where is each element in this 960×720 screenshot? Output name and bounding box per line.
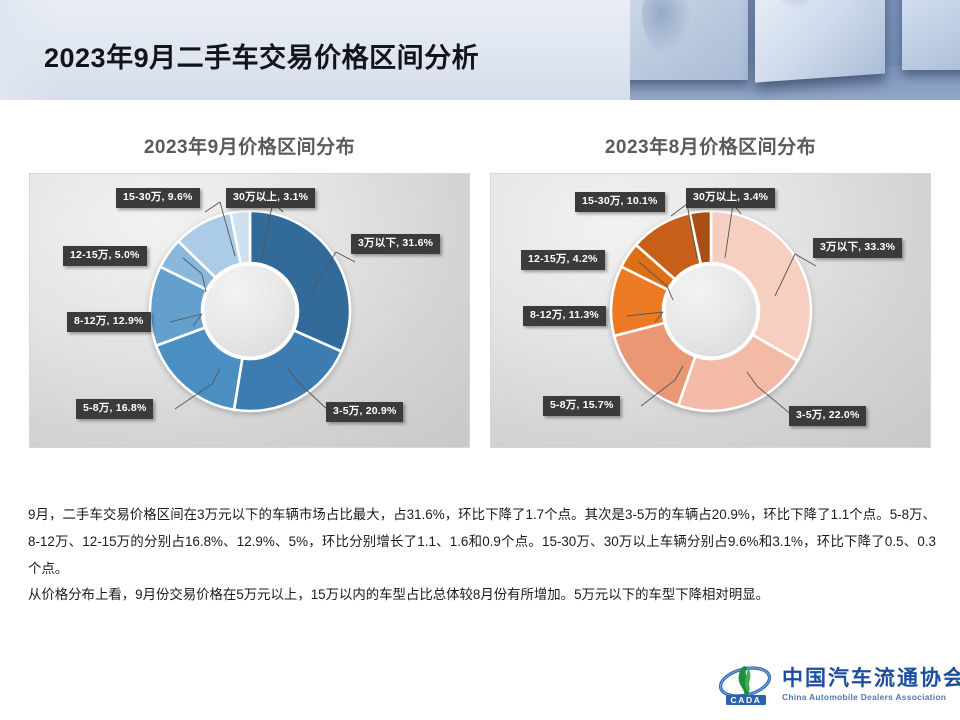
analysis-paragraph-1: 9月，二手车交易价格区间在3万元以下的车辆市场占比最大，占31.6%，环比下降了…	[28, 502, 936, 582]
cube-icon	[902, 0, 960, 70]
chart-title-august: 2023年8月价格区间分布	[490, 132, 931, 159]
data-label-5-8wan: 5-8万, 15.7%	[543, 396, 620, 416]
data-label-3-5wan: 3-5万, 22.0%	[789, 406, 866, 426]
data-label-under-3wan: 3万以下, 31.6%	[351, 234, 440, 254]
data-label-30wan-above: 30万以上, 3.4%	[686, 188, 775, 208]
chart-block-september: 2023年9月价格区间分布	[29, 132, 470, 448]
page-title: 2023年9月二手车交易价格区间分析	[44, 36, 479, 75]
data-label-12-15wan: 12-15万, 4.2%	[521, 250, 605, 270]
data-label-8-12wan: 8-12万, 11.3%	[523, 306, 606, 326]
svg-text:CADA: CADA	[731, 695, 762, 705]
cada-logo-en: China Automobile Dealers Association	[782, 693, 960, 701]
chart-title-september: 2023年9月价格区间分布	[29, 132, 470, 159]
chart-block-august: 2023年8月价格区间分布	[490, 132, 931, 448]
data-label-15-30wan: 15-30万, 10.1%	[575, 192, 665, 212]
data-label-12-15wan: 12-15万, 5.0%	[63, 246, 147, 266]
data-label-8-12wan: 8-12万, 12.9%	[67, 312, 151, 332]
header-decoration-image	[630, 0, 960, 100]
chart-panel-september: 15-30万, 9.6% 30万以上, 3.1% 3万以下, 31.6% 12-…	[29, 173, 470, 448]
chart-panel-august: 15-30万, 10.1% 30万以上, 3.4% 3万以下, 33.3% 12…	[490, 173, 931, 448]
analysis-text: 9月，二手车交易价格区间在3万元以下的车辆市场占比最大，占31.6%，环比下降了…	[28, 502, 936, 609]
data-label-15-30wan: 15-30万, 9.6%	[116, 188, 200, 208]
data-label-under-3wan: 3万以下, 33.3%	[813, 238, 902, 258]
analysis-paragraph-2: 从价格分布上看，9月份交易价格在5万元以上，15万以内的车型占比总体较8月份有所…	[28, 582, 936, 609]
data-label-3-5wan: 3-5万, 20.9%	[326, 402, 403, 422]
data-label-5-8wan: 5-8万, 16.8%	[76, 399, 153, 419]
cube-icon	[630, 0, 748, 80]
data-label-30wan-above: 30万以上, 3.1%	[226, 188, 315, 208]
cada-logo-text: 中国汽车流通协会 China Automobile Dealers Associ…	[782, 668, 960, 701]
cube-icon	[755, 0, 885, 83]
cada-logo-cn: 中国汽车流通协会	[782, 668, 960, 689]
cada-logo: CADA 中国汽车流通协会 China Automobile Dealers A…	[718, 662, 960, 708]
cada-emblem-icon: CADA	[718, 662, 774, 708]
